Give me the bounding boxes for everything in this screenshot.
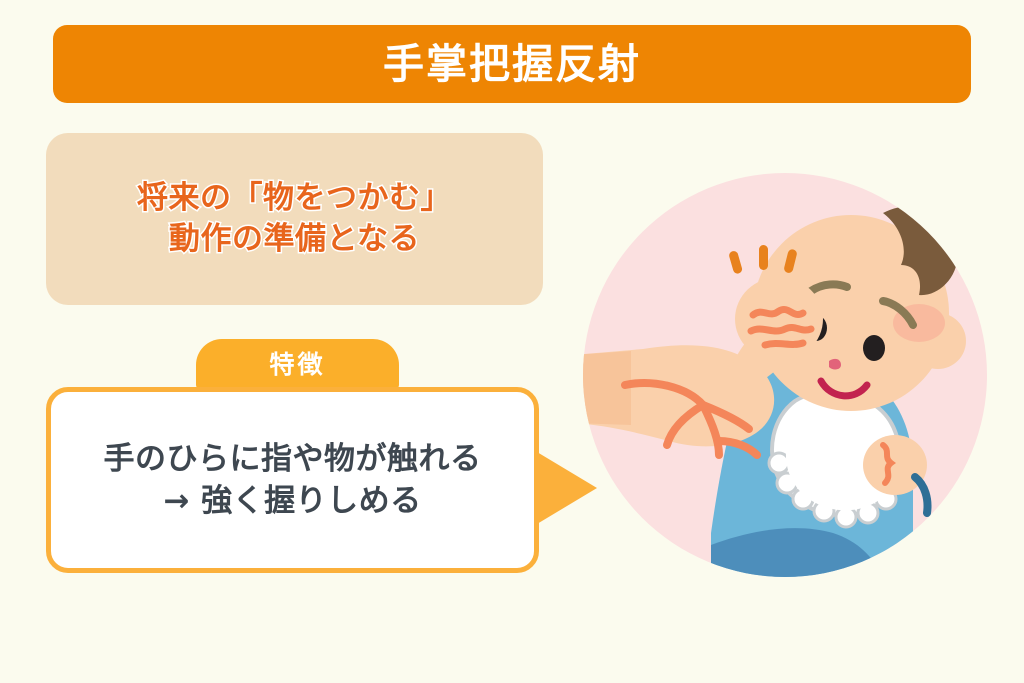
baby-eye-right	[863, 335, 885, 361]
title-banner: 手掌把握反射	[53, 25, 971, 103]
feature-text: 手のひらに指や物が触れる → 強く握りしめる	[104, 438, 482, 522]
infographic-canvas: 手掌把握反射 将来の「物をつかむ」 動作の準備となる 特徴 手のひらに指や物が触…	[0, 0, 1024, 683]
feature-tab-label: 特徴	[269, 352, 325, 377]
baby-hand-grip	[735, 277, 823, 361]
purpose-line-1: 将来の「物をつかむ」	[137, 178, 452, 219]
baby-grasp-illustration	[583, 173, 987, 577]
purpose-line-2: 動作の準備となる	[137, 219, 452, 260]
page-title: 手掌把握反射	[383, 44, 641, 85]
feature-callout-box: 手のひらに指や物が触れる → 強く握りしめる	[46, 387, 539, 573]
feature-line-2: → 強く握りしめる	[104, 480, 482, 522]
feature-tab: 特徴	[196, 339, 399, 389]
purpose-text: 将来の「物をつかむ」 動作の準備となる	[137, 178, 452, 260]
baby-nose	[829, 359, 841, 370]
purpose-box: 将来の「物をつかむ」 動作の準備となる	[46, 133, 543, 305]
callout-arrow-icon	[537, 452, 597, 524]
feature-line-1: 手のひらに指や物が触れる	[104, 438, 482, 480]
